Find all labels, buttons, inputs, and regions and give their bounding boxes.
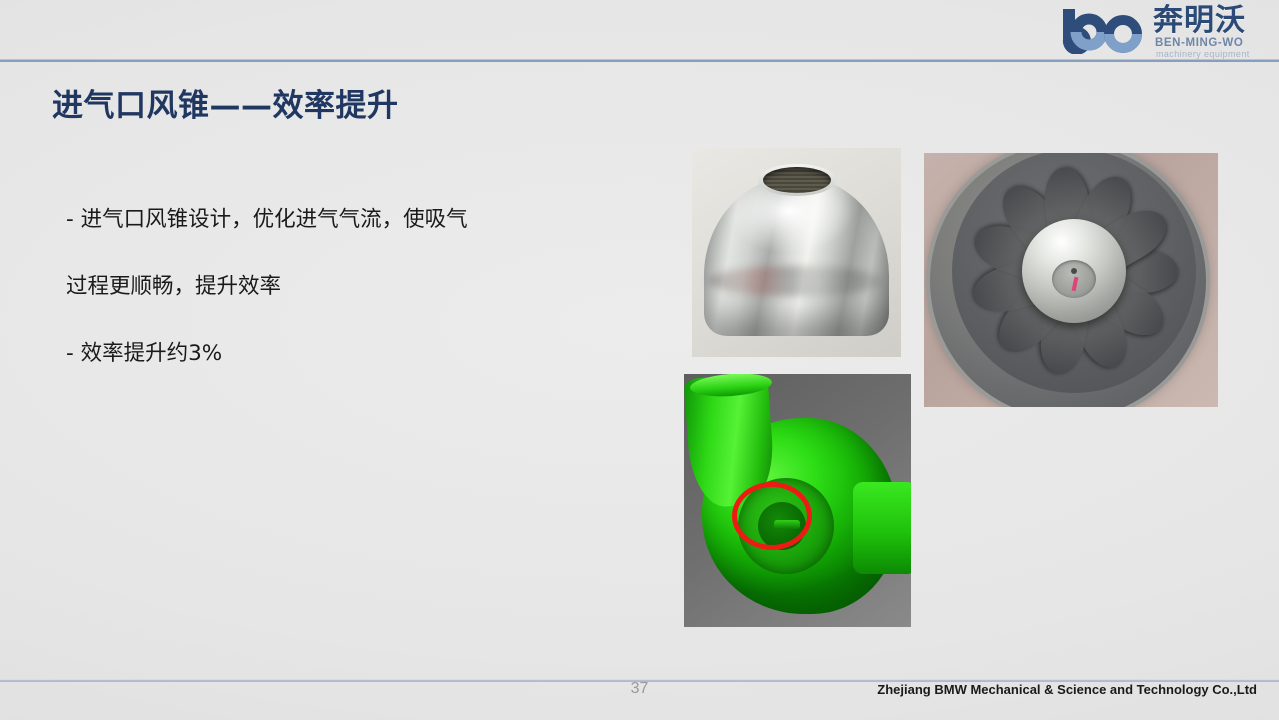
header-divider	[0, 59, 1279, 62]
body-line-1: - 进气口风锥设计，优化进气气流，使吸气	[66, 186, 626, 253]
slide: 奔明沃 BEN-MING-WO machinery equipment 进气口风…	[0, 0, 1279, 720]
slide-header: 奔明沃 BEN-MING-WO machinery equipment	[0, 0, 1279, 60]
air-cone-photo	[692, 148, 901, 357]
air-cone-reflection	[708, 266, 884, 296]
cad-motor-shaft-housing	[853, 482, 911, 574]
red-highlight-ellipse-annotation	[732, 482, 812, 550]
impeller-blade-ring	[952, 153, 1196, 393]
logo-english-name: BEN-MING-WO	[1155, 37, 1243, 49]
company-logo: 奔明沃 BEN-MING-WO machinery equipment	[1049, 2, 1271, 60]
logo-chinese-name: 奔明沃	[1153, 5, 1246, 37]
bo-monogram-logo-icon	[1055, 6, 1151, 54]
footer-company-name: Zhejiang BMW Mechanical & Science and Te…	[877, 682, 1257, 697]
impeller-photo	[924, 153, 1218, 407]
body-text-block: - 进气口风锥设计，优化进气气流，使吸气 过程更顺畅，提升效率 - 效率提升约3…	[66, 186, 626, 387]
air-cone-threaded-hole	[763, 167, 831, 193]
cad-render	[684, 374, 911, 627]
air-cone-body	[704, 176, 889, 336]
page-title: 进气口风锥——效率提升	[52, 80, 399, 125]
impeller-center-hole	[1071, 268, 1077, 274]
impeller-disc	[930, 153, 1206, 407]
body-line-2: 过程更顺畅，提升效率	[66, 253, 626, 320]
body-line-3: - 效率提升约3%	[66, 320, 626, 387]
logo-tagline: machinery equipment	[1156, 49, 1250, 59]
